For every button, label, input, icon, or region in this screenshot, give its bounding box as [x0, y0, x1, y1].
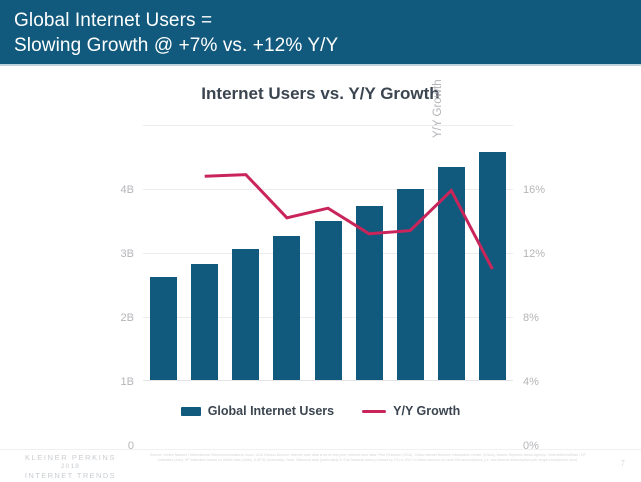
y-axis-left-tick: 3B	[100, 248, 134, 260]
y-axis-right-tick: 4%	[523, 376, 563, 388]
slide-header: Global Internet Users =Slowing Growth @ …	[0, 0, 641, 66]
line-series	[143, 125, 513, 381]
y-axis-right-tick: 12%	[523, 248, 563, 260]
source-note: Source: United Nations / International T…	[148, 453, 588, 463]
legend-label-line: Y/Y Growth	[393, 404, 460, 418]
page-number: 7	[621, 459, 625, 468]
legend-swatch-icon-line	[362, 410, 386, 413]
legend-swatch-icon-bars	[181, 407, 201, 416]
slide-footer: KLEINER PERKINS 2018 INTERNET TRENDS Sou…	[0, 449, 641, 482]
slide-title-line2: Slowing Growth @ +7% vs. +12% Y/Y	[14, 35, 338, 56]
y-axis-left-tick: 2B	[100, 312, 134, 324]
chart-legend: Global Internet Users Y/Y Growth	[0, 404, 641, 418]
brand-line-3: INTERNET TRENDS	[8, 471, 133, 480]
brand-line-2: 2018	[8, 463, 133, 470]
y-axis-right-tick: 16%	[523, 184, 563, 196]
brand-line-1: KLEINER PERKINS	[8, 453, 133, 462]
legend-item-line[interactable]: Y/Y Growth	[362, 404, 460, 418]
legend-label-bars: Global Internet Users	[208, 404, 334, 418]
y-axis-left-tick: 4B	[100, 184, 134, 196]
growth-line	[205, 175, 493, 269]
x-axis-line	[143, 380, 513, 381]
slide-title: Global Internet Users =Slowing Growth @ …	[14, 8, 338, 58]
y-axis-right-title: Y/Y Growth	[432, 18, 444, 138]
chart-title: Internet Users vs. Y/Y Growth	[0, 84, 641, 104]
legend-item-bars[interactable]: Global Internet Users	[181, 404, 334, 418]
plot-area	[143, 125, 513, 381]
y-axis-right-tick: 8%	[523, 312, 563, 324]
brand-logo: KLEINER PERKINS 2018 INTERNET TRENDS	[8, 453, 133, 480]
chart-container: Internet Users vs. Y/Y Growth Internet U…	[0, 66, 641, 449]
y-axis-left-tick: 1B	[100, 376, 134, 388]
slide-title-line1: Global Internet Users =	[14, 10, 212, 31]
